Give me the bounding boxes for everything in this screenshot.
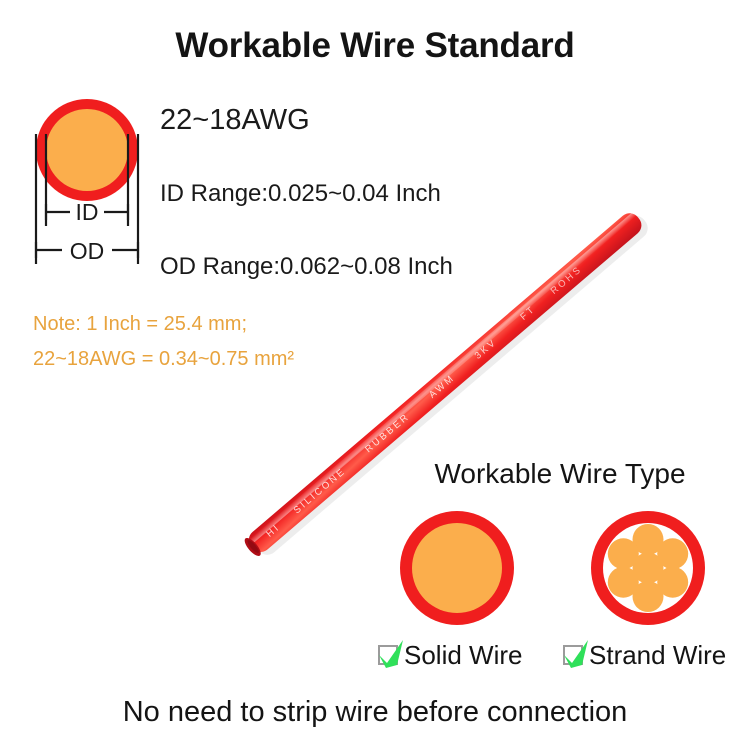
wire-type-title: Workable Wire Type	[404, 458, 716, 490]
svg-text:RUBBER: RUBBER	[363, 411, 412, 455]
solid-wire-icon	[397, 508, 517, 628]
svg-text:HI: HI	[264, 522, 282, 540]
svg-text:3KV: 3KV	[473, 337, 500, 362]
svg-text:ROHS: ROHS	[549, 264, 585, 297]
strand-wire-label: Strand Wire	[589, 640, 726, 671]
id-dimension-label: ID	[76, 199, 99, 225]
solid-wire-checkbox[interactable]	[378, 645, 398, 665]
svg-text:AWM: AWM	[427, 372, 457, 400]
wire-standard-infographic: Workable Wire Standard	[0, 0, 750, 750]
od-dimension-label: OD	[70, 238, 105, 264]
strand-wire-checkbox[interactable]	[563, 645, 583, 665]
bottom-caption: No need to strip wire before connection	[0, 696, 750, 729]
strand-wire-icon	[588, 508, 708, 628]
solid-conductor	[412, 523, 502, 613]
svg-text:SILICONE: SILICONE	[292, 466, 349, 517]
conductor-core	[46, 109, 128, 191]
spec-od-range: OD Range:0.062~0.08 Inch	[160, 253, 453, 281]
wire-cross-section-diagram: ID OD	[18, 86, 164, 296]
wire-printed-text: HI SILICONE RUBBER AWM 3KV FT ROHS	[264, 264, 584, 540]
spec-awg-range: 22~18AWG	[160, 104, 310, 137]
page-title: Workable Wire Standard	[0, 26, 750, 66]
option-solid-wire[interactable]: Solid Wire	[378, 640, 522, 670]
check-icon	[377, 638, 407, 670]
svg-text:FT: FT	[518, 303, 538, 322]
solid-wire-label: Solid Wire	[404, 640, 522, 671]
spec-id-range: ID Range:0.025~0.04 Inch	[160, 180, 441, 208]
wire-cut-end	[242, 536, 263, 559]
wire-cut-end-inner	[246, 539, 261, 555]
option-strand-wire[interactable]: Strand Wire	[563, 640, 726, 670]
note-line-1: Note: 1 Inch = 25.4 mm;	[33, 313, 247, 336]
note-line-2: 22~18AWG = 0.34~0.75 mm²	[33, 348, 294, 371]
check-icon	[562, 638, 592, 670]
